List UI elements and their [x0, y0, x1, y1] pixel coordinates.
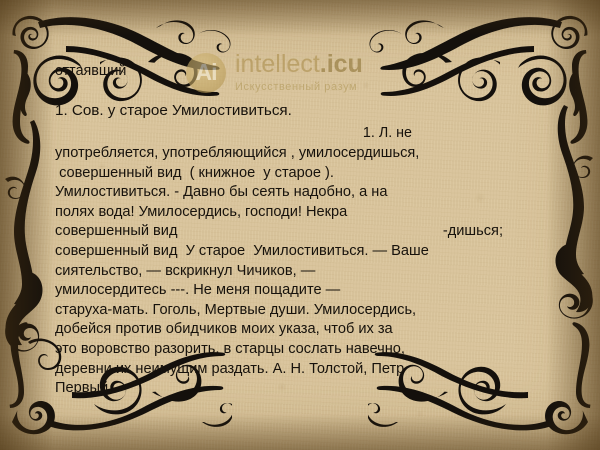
body-line: полях вода! Умилосердись, господи! Некра [55, 203, 552, 223]
body-line: употребляется, употребляющийся , умилосе… [55, 144, 552, 164]
body-line: добейся против обидчиков моих указа, что… [55, 320, 552, 340]
body-line: деревни их неимущим раздать. А. Н. Толст… [55, 360, 552, 380]
body-line: совершенный вид ( книжное у старое ). [55, 164, 552, 184]
sense-line: 1. Сов. у старое Умилостивиться. [55, 101, 552, 121]
parchment-page: Ai intellect.icu Искусственный разум отт… [0, 0, 600, 450]
body-line: совершенный вид У старое Умилостивиться.… [55, 242, 552, 262]
gap-line-right: -дишься; [443, 222, 503, 242]
dictionary-entry-text: оттаявший 1. Сов. у старое Умилостивитьс… [55, 62, 552, 399]
body-line: это воровство разорить, в старцы сослать… [55, 340, 552, 360]
headword: оттаявший [55, 62, 552, 81]
body-line: сиятельство, — вскрикнул Чичиков, — [55, 262, 552, 282]
body-line: старуха-мать. Гоголь, Мертвые души. Умил… [55, 301, 552, 321]
body-line: Умилостивиться. - Давно бы сеять надобно… [55, 183, 552, 203]
gap-line-left: совершенный вид [55, 222, 177, 242]
body-line-with-gap: совершенный вид -дишься; [55, 222, 503, 242]
body-line: Первый. [55, 379, 552, 399]
body-line: умилосердитесь ---. Не меня пощадите — [55, 281, 552, 301]
right-note: 1. Л. не [55, 123, 552, 144]
